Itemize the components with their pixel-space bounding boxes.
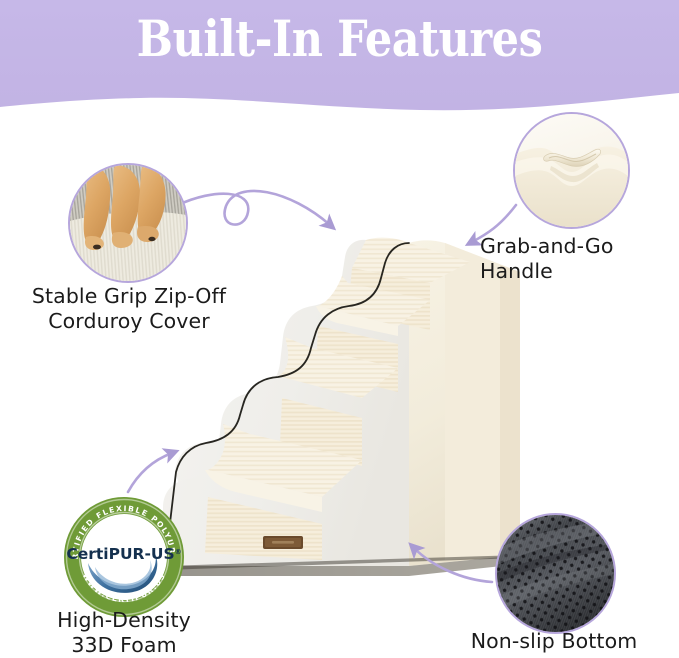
badge-brand-text: CertiPUR-US® <box>66 545 181 563</box>
label-corduroy-cover: Stable Grip Zip-Off Corduroy Cover <box>4 284 254 334</box>
label-high-density-foam: High-Density 33D Foam <box>28 608 220 658</box>
corduroy-cover-photo <box>68 163 188 283</box>
infographic-canvas: Built-In Features <box>0 0 679 658</box>
brand-leather-tag <box>263 536 303 549</box>
grab-handle-photo <box>513 112 630 229</box>
label-non-slip-bottom: Non-slip Bottom <box>442 629 666 654</box>
non-slip-bottom-photo <box>495 513 616 634</box>
dog-paws <box>84 165 166 250</box>
label-grab-handle: Grab-and-Go Handle <box>480 234 675 284</box>
certipur-badge: CONTAINS CERTIFIED FLEXIBLE POLYURETHANE… <box>62 495 186 619</box>
